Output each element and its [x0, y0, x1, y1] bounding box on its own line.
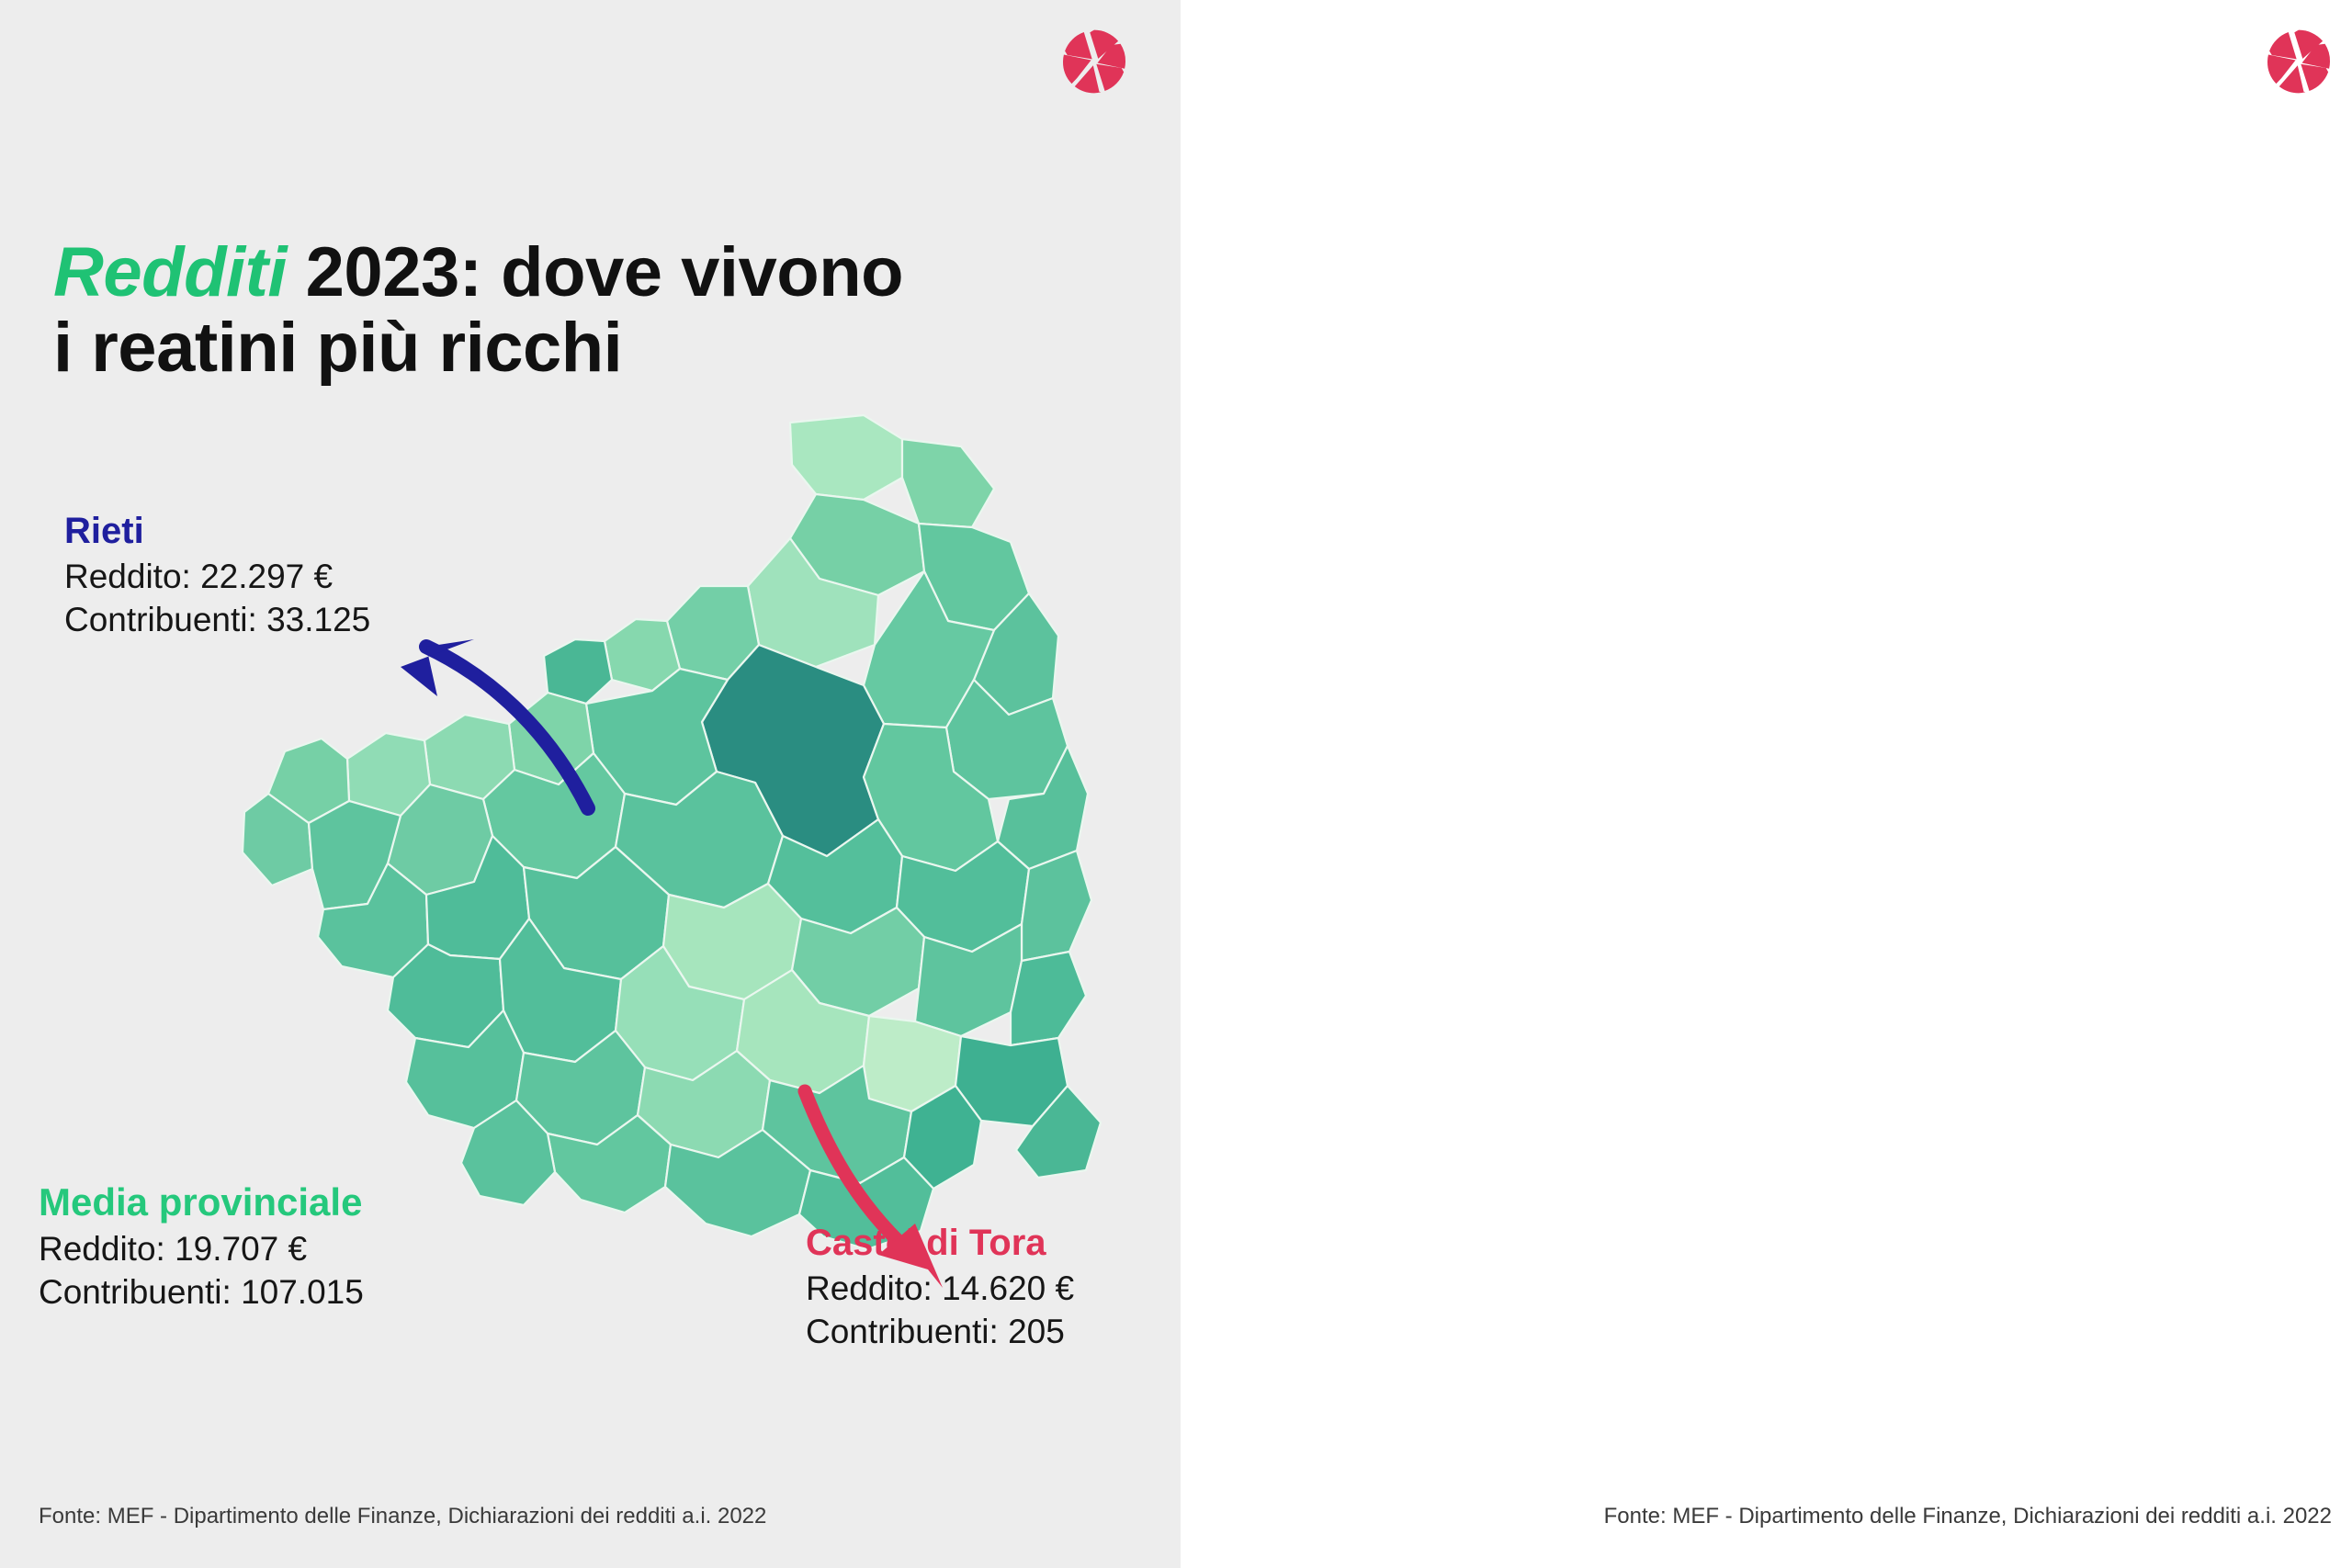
annotation-media-name: Media provinciale — [39, 1180, 364, 1224]
annotation-rieti-income: Reddito: 22.297 € — [64, 556, 370, 599]
right-panel: Redditi 2023: dove vivono i reatini più … — [1181, 0, 2352, 1568]
page-title-rest: 2023: dove vivono — [287, 233, 903, 311]
annotation-media-income: Reddito: 19.707 € — [39, 1228, 364, 1271]
source-note-left: Fonte: MEF - Dipartimento delle Finanze,… — [39, 1504, 766, 1529]
annotation-castel-di-tora: Castel di Tora Reddito: 14.620 € Contrib… — [806, 1222, 1074, 1353]
left-panel: Redditi 2023: dove vivono i reatini più … — [0, 0, 1181, 1568]
aperture-shutter-logo-icon — [1058, 26, 1130, 97]
source-note-right: Fonte: MEF - Dipartimento delle Finanze,… — [1604, 1504, 2332, 1529]
annotation-rieti: Rieti Reddito: 22.297 € Contribuenti: 33… — [64, 510, 370, 641]
map-municipality-shapes — [243, 415, 1101, 1249]
annotation-castel-taxpayers: Contribuenti: 205 — [806, 1311, 1074, 1354]
aperture-shutter-logo-icon — [2263, 26, 2335, 97]
annotation-media-provinciale: Media provinciale Reddito: 19.707 € Cont… — [39, 1180, 364, 1314]
annotation-castel-name: Castel di Tora — [806, 1222, 1074, 1264]
annotation-rieti-name: Rieti — [64, 510, 370, 552]
page-title: Redditi 2023: dove vivono i reatini più … — [53, 235, 1091, 386]
page-title-line-1: Redditi 2023: dove vivono — [53, 235, 1091, 310]
page-title-accent: Redditi — [53, 233, 287, 311]
annotation-castel-income: Reddito: 14.620 € — [806, 1268, 1074, 1311]
infographic-canvas: Redditi 2023: dove vivono i reatini più … — [0, 0, 2352, 1568]
annotation-rieti-taxpayers: Contribuenti: 33.125 — [64, 599, 370, 642]
annotation-media-taxpayers: Contribuenti: 107.015 — [39, 1271, 364, 1314]
page-title-line-2: i reatini più ricchi — [53, 310, 1091, 386]
